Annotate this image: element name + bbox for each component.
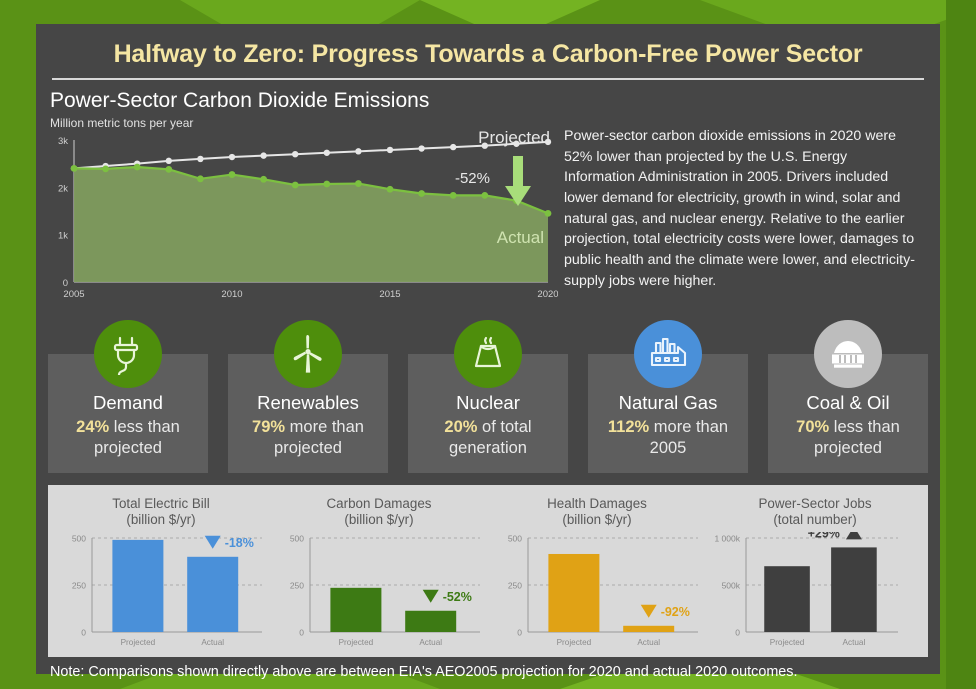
bar-title-2: Health Damages (billion $/yr) [488, 491, 706, 528]
svg-text:500: 500 [72, 533, 86, 543]
bar-chart-total-electric-bill: Total Electric Bill (billion $/yr) 02505… [52, 491, 270, 655]
bar-chart-power-sector-jobs: Power-Sector Jobs (total number) 0500k1 … [706, 491, 924, 655]
renewables-card-stat: 79% more than projected [234, 417, 382, 459]
svg-text:Projected: Projected [770, 638, 805, 647]
bar-svg-3: 0500k1 000kProjectedActual+29% [706, 532, 906, 652]
demand-card-stat: 24% less than projected [54, 417, 202, 459]
svg-text:2010: 2010 [221, 289, 242, 300]
bar-title-sub-0: (billion $/yr) [52, 512, 270, 528]
stat-card-natural-gas[interactable]: Natural Gas 112% more than 2005 [588, 320, 748, 473]
coal-oil-card-value: 70% [796, 418, 829, 436]
natural-gas-badge [634, 320, 702, 388]
coal-oil-card-stat: 70% less than projected [774, 417, 922, 459]
factory-icon [646, 335, 690, 373]
natural-gas-card-value: 112% [608, 418, 649, 436]
svg-text:-92%: -92% [661, 605, 690, 619]
nuclear-card-title: Nuclear [414, 392, 562, 414]
bar-plot-2: 0250500ProjectedActual-92% [488, 532, 706, 657]
demand-card-value: 24% [76, 418, 109, 436]
bar-title-main-2: Health Damages [488, 496, 706, 512]
bar-plot-1: 0250500ProjectedActual-52% [270, 532, 488, 657]
actual-series-label: Actual [497, 228, 544, 248]
projected-series-label: Projected [478, 128, 550, 148]
page-title: Halfway to Zero: Progress Towards a Carb… [36, 24, 940, 69]
natural-gas-card-title: Natural Gas [594, 392, 742, 414]
comparison-bar-charts-panel: Total Electric Bill (billion $/yr) 02505… [48, 485, 928, 657]
demand-badge [94, 320, 162, 388]
arrow-down-icon [505, 156, 531, 208]
svg-text:0: 0 [81, 627, 86, 637]
svg-text:Actual: Actual [637, 638, 660, 647]
svg-text:Projected: Projected [557, 638, 592, 647]
svg-text:2015: 2015 [379, 289, 400, 300]
nuclear-cooling-tower-icon [467, 334, 509, 374]
bar-svg-0: 0250500ProjectedActual-18% [52, 532, 270, 652]
bar-title-1: Carbon Damages (billion $/yr) [270, 491, 488, 528]
stat-card-demand[interactable]: Demand 24% less than projected [48, 320, 208, 473]
stat-card-coal-oil[interactable]: Coal & Oil 70% less than projected [768, 320, 928, 473]
renewables-card-value: 79% [252, 418, 285, 436]
bar-chart-carbon-damages: Carbon Damages (billion $/yr) 0250500Pro… [270, 491, 488, 655]
bar-title-sub-2: (billion $/yr) [488, 512, 706, 528]
bar-title-main-1: Carbon Damages [270, 496, 488, 512]
svg-text:0: 0 [517, 627, 522, 637]
nuclear-card-value: 20% [444, 418, 477, 436]
power-plug-icon [108, 333, 148, 375]
svg-text:-18%: -18% [225, 536, 254, 550]
svg-text:3k: 3k [58, 136, 68, 147]
svg-text:2020: 2020 [537, 289, 558, 300]
svg-text:1k: 1k [58, 231, 68, 242]
coal-oil-card-title: Coal & Oil [774, 392, 922, 414]
svg-text:250: 250 [72, 580, 86, 590]
svg-text:Actual: Actual [843, 638, 866, 647]
bar-svg-1: 0250500ProjectedActual-52% [270, 532, 488, 652]
svg-text:0: 0 [299, 627, 304, 637]
svg-text:250: 250 [290, 580, 304, 590]
footnote: Note: Comparisons shown directly above a… [36, 657, 940, 680]
bar-title-main-3: Power-Sector Jobs [706, 496, 924, 512]
svg-text:Projected: Projected [121, 638, 156, 647]
bar-title-0: Total Electric Bill (billion $/yr) [52, 491, 270, 528]
section-subtitle: Power-Sector Carbon Dioxide Emissions [36, 80, 940, 113]
natural-gas-card-stat: 112% more than 2005 [594, 417, 742, 459]
svg-text:500: 500 [508, 533, 522, 543]
wind-turbine-icon [288, 332, 328, 376]
bar-chart-health-damages: Health Damages (billion $/yr) 0250500Pro… [488, 491, 706, 655]
svg-text:500k: 500k [722, 580, 741, 590]
svg-text:2k: 2k [58, 183, 68, 194]
emissions-delta-label: -52% [455, 170, 490, 187]
renewables-card-rest: more than projected [274, 418, 364, 457]
line-chart-column: Million metric tons per year 01k2k3k2005… [36, 116, 556, 310]
stat-cards-row: Demand 24% less than projected [36, 320, 940, 473]
stat-card-nuclear[interactable]: Nuclear 20% of total generation [408, 320, 568, 473]
svg-text:0: 0 [735, 627, 740, 637]
svg-text:0: 0 [63, 278, 68, 289]
summary-paragraph: Power-sector carbon dioxide emissions in… [556, 116, 940, 310]
svg-text:Actual: Actual [419, 638, 442, 647]
bar-svg-2: 0250500ProjectedActual-92% [488, 532, 706, 652]
svg-text:1 000k: 1 000k [714, 533, 740, 543]
demand-card-title: Demand [54, 392, 202, 414]
top-row: Million metric tons per year 01k2k3k2005… [36, 113, 940, 310]
svg-text:Projected: Projected [339, 638, 374, 647]
natural-gas-card-rest: more than 2005 [649, 418, 728, 457]
bg-decor-right-band [946, 0, 976, 689]
svg-text:500: 500 [290, 533, 304, 543]
coal-pile-icon [826, 337, 870, 371]
nuclear-badge [454, 320, 522, 388]
bar-title-3: Power-Sector Jobs (total number) [706, 491, 924, 528]
renewables-badge [274, 320, 342, 388]
bar-title-main-0: Total Electric Bill [52, 496, 270, 512]
svg-text:250: 250 [508, 580, 522, 590]
bar-title-sub-3: (total number) [706, 512, 924, 528]
bar-title-sub-1: (billion $/yr) [270, 512, 488, 528]
renewables-card-title: Renewables [234, 392, 382, 414]
line-chart-svg: 01k2k3k2005201020152020 [46, 132, 558, 310]
bar-plot-0: 0250500ProjectedActual-18% [52, 532, 270, 657]
svg-text:-52%: -52% [443, 590, 472, 604]
stat-card-renewables[interactable]: Renewables 79% more than projected [228, 320, 388, 473]
bar-plot-3: 0500k1 000kProjectedActual+29% [706, 532, 924, 657]
svg-text:2005: 2005 [63, 289, 84, 300]
nuclear-card-stat: 20% of total generation [414, 417, 562, 459]
svg-text:+29%: +29% [808, 532, 840, 540]
emissions-line-chart: 01k2k3k2005201020152020 Projected Actual… [46, 132, 558, 310]
coal-oil-badge [814, 320, 882, 388]
svg-text:Actual: Actual [201, 638, 224, 647]
infographic-panel: Halfway to Zero: Progress Towards a Carb… [36, 24, 940, 674]
